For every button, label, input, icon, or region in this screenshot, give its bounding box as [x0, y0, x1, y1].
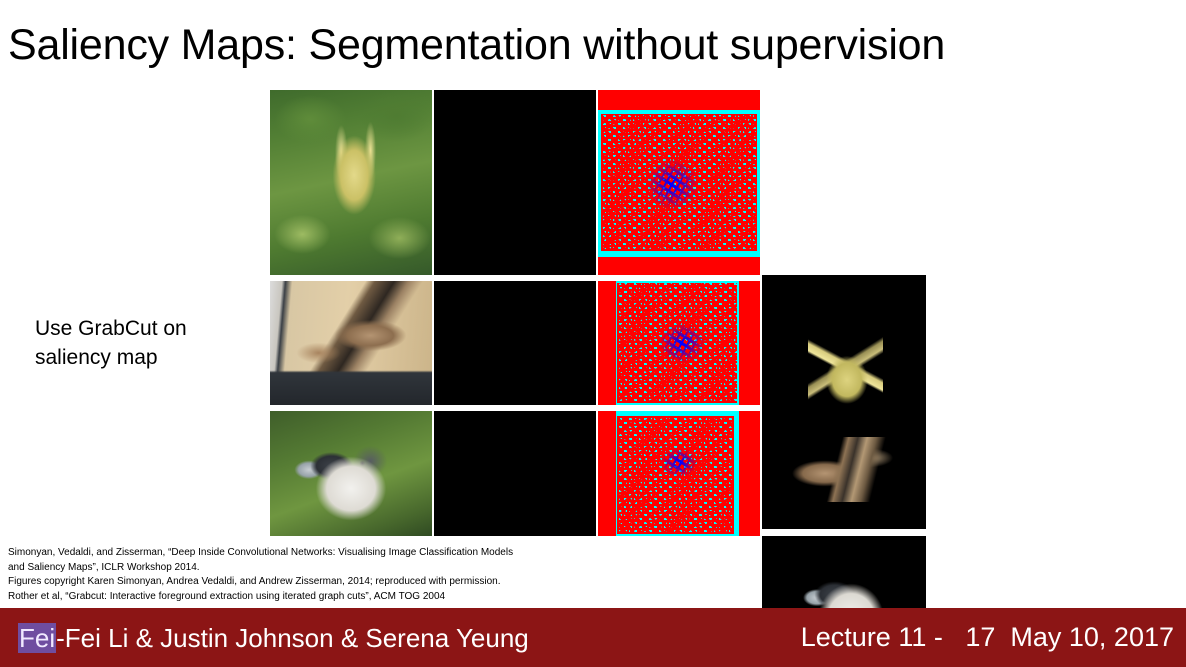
footer-authors-highlight: Fei [18, 623, 56, 653]
segmentation-certain-foreground-layer [653, 318, 711, 368]
footer-authors: Fei-Fei Li & Justin Johnson & Serena Yeu… [18, 622, 529, 654]
segmentation-certain-foreground-layer [640, 153, 705, 216]
citation-line: Rother et al, “Grabcut: Interactive fore… [8, 590, 748, 605]
citation-line: and Saliency Maps”, ICLR Workshop 2014. [8, 561, 748, 576]
citation-block: Simonyan, Vedaldi, and Zisserman, “Deep … [8, 546, 748, 604]
figure-grid [270, 90, 926, 536]
footer-lecture-info: Lecture 11 - 17 May 10, 2017 [801, 621, 1174, 654]
segmentation-right-band [739, 411, 760, 536]
figure-cell-grasshopper-saliency [434, 90, 596, 275]
grasshopper-photo-image [270, 90, 432, 275]
segmentation-right-band [739, 281, 760, 405]
segmentation-left-band [598, 281, 616, 405]
figure-cell-vulture-segmentation [598, 411, 760, 536]
figure-cell-snake-segmentation [598, 281, 760, 405]
page-title: Saliency Maps: Segmentation without supe… [8, 20, 945, 70]
figure-row-snake [270, 281, 926, 405]
segmentation-certain-foreground-layer [656, 444, 701, 482]
body-note: Use GrabCut on saliency map [35, 314, 265, 372]
segmentation-top-band [598, 90, 760, 110]
figure-row-grasshopper [270, 90, 926, 275]
figure-cell-grasshopper-original [270, 90, 432, 275]
figure-cell-vulture-saliency [434, 411, 596, 536]
segmentation-left-band [598, 411, 616, 536]
citation-line: Simonyan, Vedaldi, and Zisserman, “Deep … [8, 546, 748, 561]
footer-bar: Fei-Fei Li & Justin Johnson & Serena Yeu… [0, 608, 1186, 667]
footer-authors-rest: -Fei Li & Justin Johnson & Serena Yeung [56, 623, 529, 653]
figure-cell-snake-original [270, 281, 432, 405]
figure-row-vulture [270, 411, 926, 536]
figure-cell-vulture-original [270, 411, 432, 536]
segmentation-bottom-band [598, 257, 760, 276]
snake-photo-image [270, 281, 432, 405]
vulture-photo-image [270, 411, 432, 536]
figure-cell-grasshopper-segmentation [598, 90, 760, 275]
figure-cell-snake-saliency [434, 281, 596, 405]
citation-line: Figures copyright Karen Simonyan, Andrea… [8, 575, 748, 590]
